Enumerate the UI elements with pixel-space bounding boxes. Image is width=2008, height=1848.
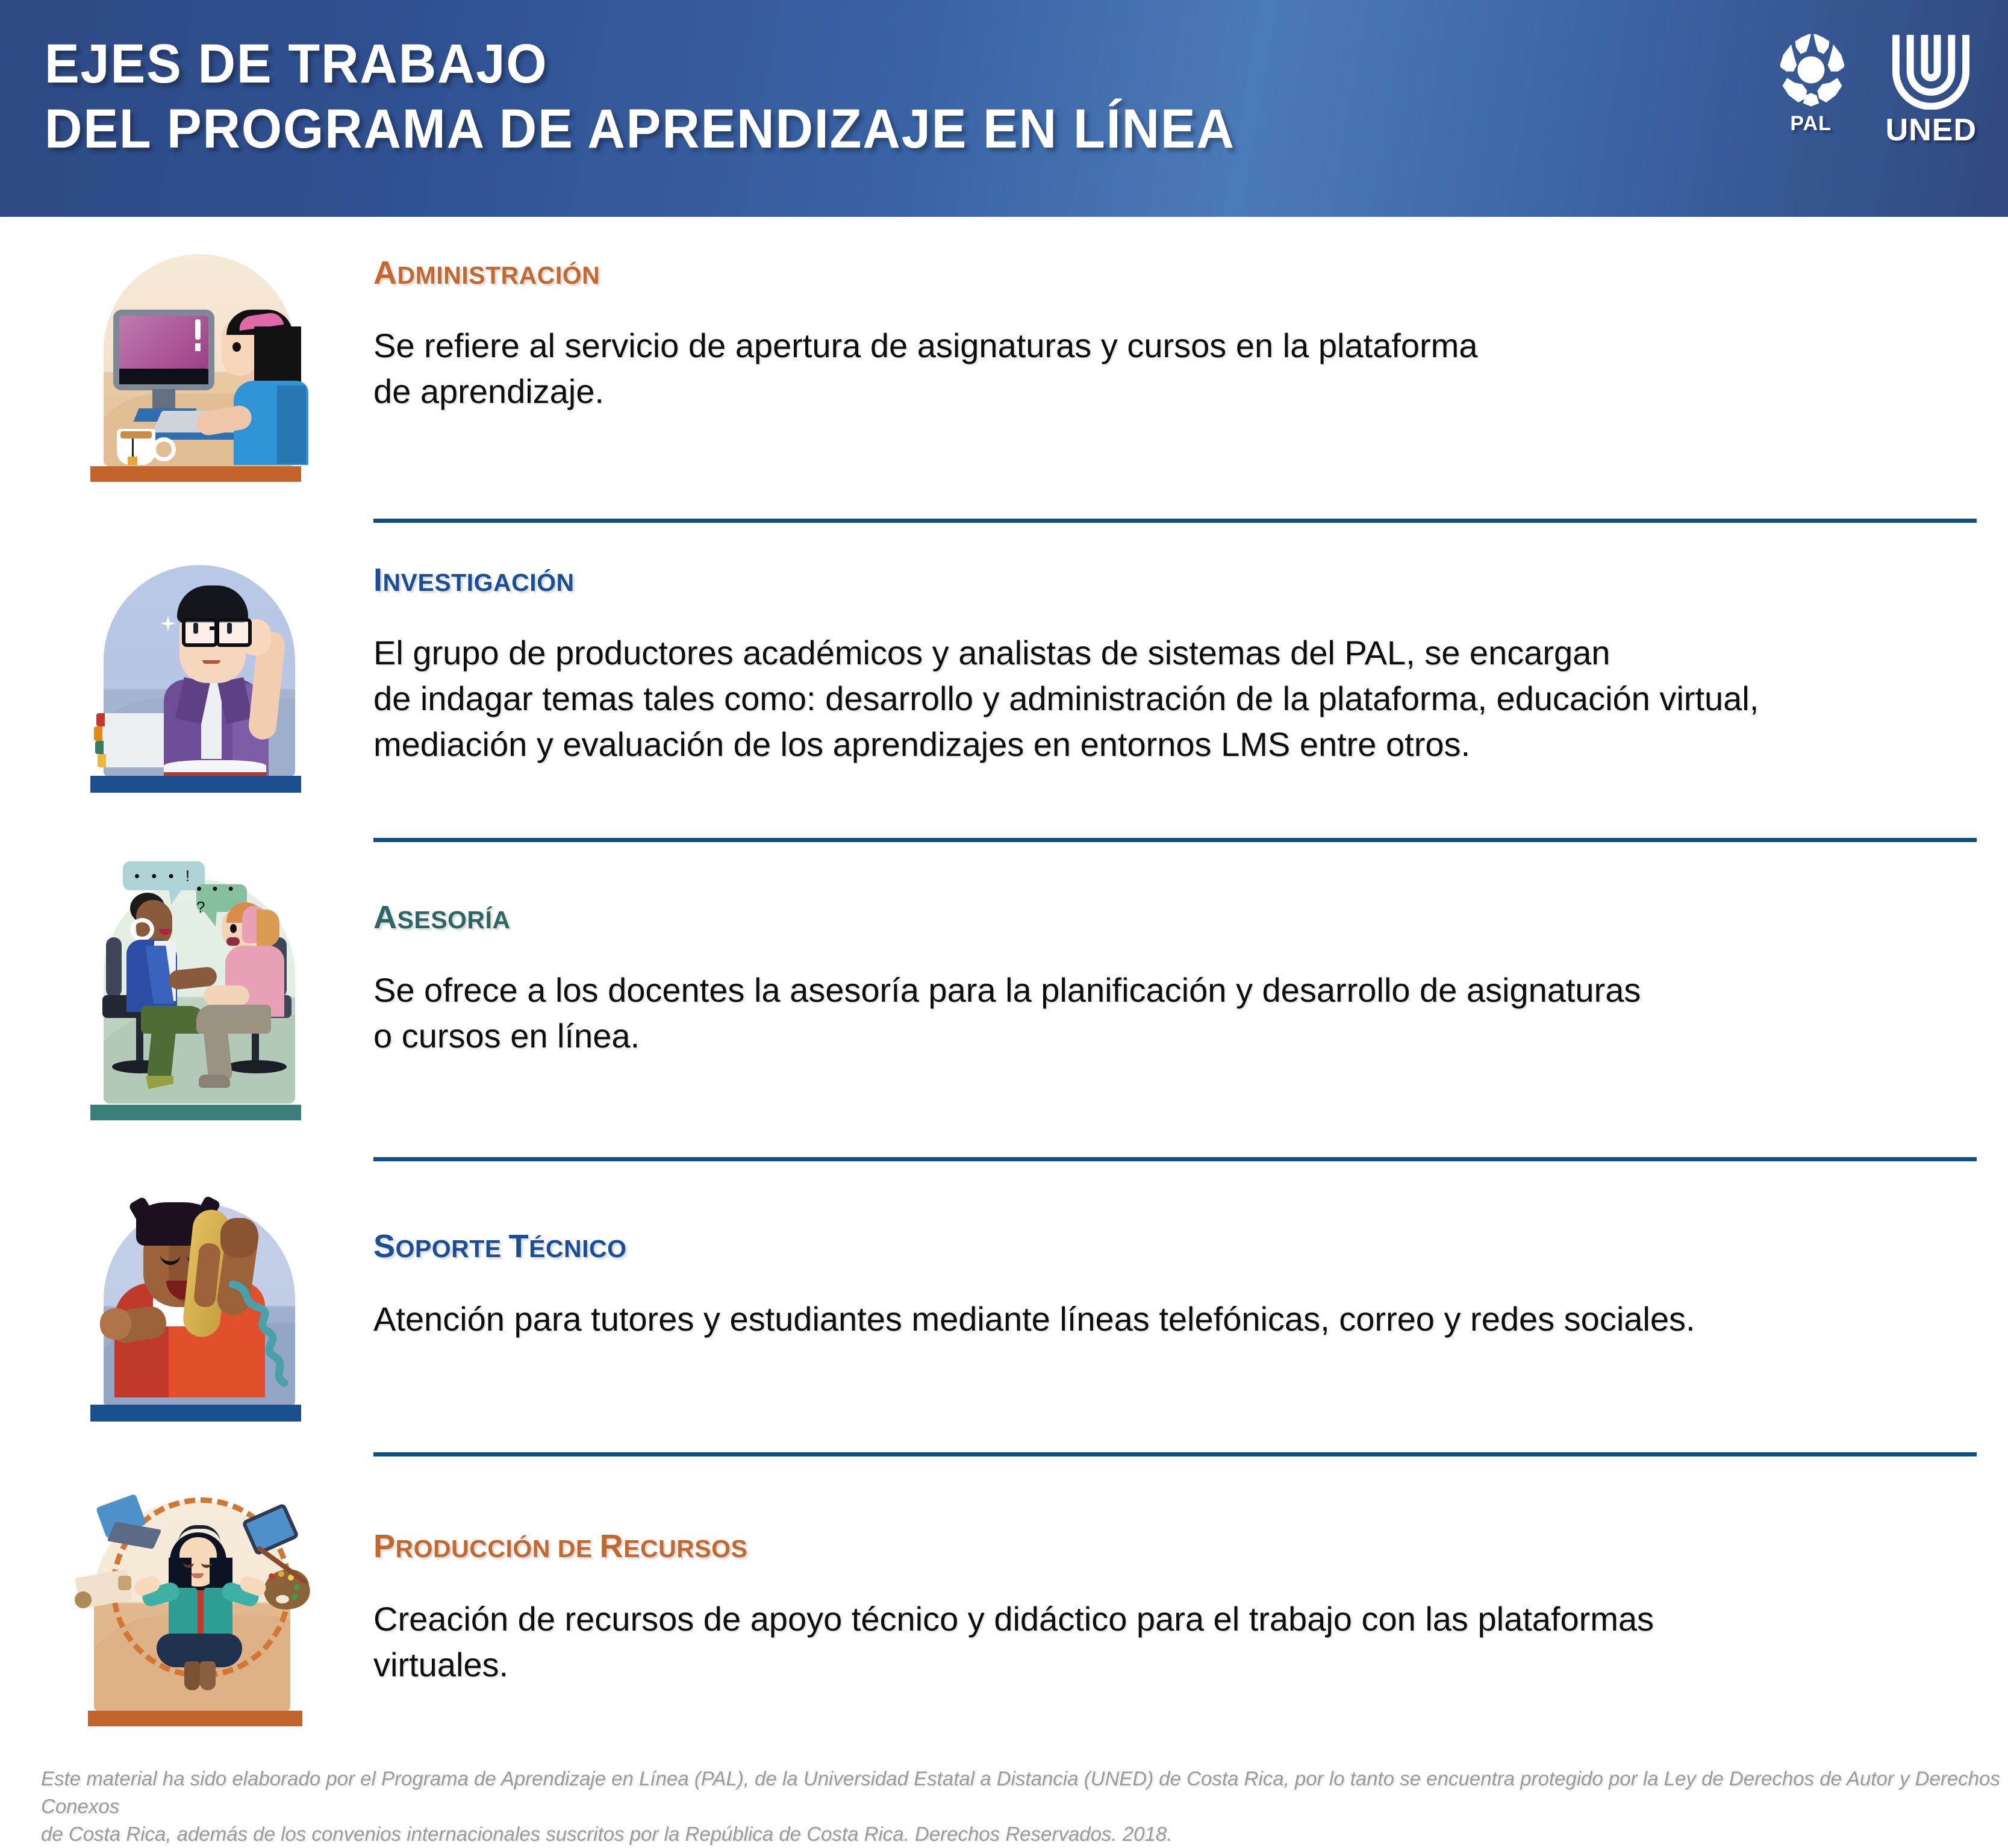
section-art-column bbox=[0, 524, 373, 777]
section-text-column: ASESORÍA Se ofrece a los docentes la ase… bbox=[373, 843, 2008, 1059]
page-header: EJES DE TRABAJO DEL PROGRAMA DE APRENDIZ… bbox=[0, 0, 2008, 217]
section-text-column: ADMINISTRACIÓN Se refiere al servicio de… bbox=[373, 217, 2008, 414]
pal-rosette-icon bbox=[1771, 30, 1851, 110]
header-logos: PAL UNED bbox=[1771, 30, 1977, 148]
uned-logo-block: UNED bbox=[1886, 30, 1977, 148]
section-heading-administracion: ADMINISTRACIÓN bbox=[373, 254, 1942, 292]
sections-list: ADMINISTRACIÓN Se refiere al servicio de… bbox=[0, 217, 2008, 1741]
meditating-woman-with-devices-illustration bbox=[66, 1467, 325, 1726]
woman-at-computer-illustration bbox=[78, 230, 319, 483]
pal-logo-block: PAL bbox=[1771, 30, 1851, 136]
section-body-soporte-tecnico: Atención para tutores y estudiantes medi… bbox=[373, 1296, 1942, 1342]
telephone-cord-icon bbox=[229, 1281, 295, 1389]
speech-bubble-left: • • • ! bbox=[123, 861, 205, 890]
section-administracion: ADMINISTRACIÓN Se refiere al servicio de… bbox=[0, 217, 2008, 524]
section-divider bbox=[373, 1157, 1977, 1161]
uned-arcs-icon bbox=[1890, 30, 1972, 110]
section-art-column bbox=[0, 1458, 373, 1717]
section-body-administracion: Se refiere al servicio de apertura de as… bbox=[373, 323, 1942, 414]
two-people-talking-illustration: • • • ! • • • ? bbox=[78, 855, 319, 1120]
section-produccion-de-recursos: PRODUCCIÓN DE RECURSOS Creación de recur… bbox=[0, 1458, 2008, 1741]
section-heading-asesoria: ASESORÍA bbox=[373, 899, 1942, 936]
section-soporte-tecnico: SOPORTE TÉCNICO Atención para tutores y … bbox=[0, 1163, 2008, 1458]
uned-logo-label: UNED bbox=[1886, 112, 1977, 148]
section-text-column: SOPORTE TÉCNICO Atención para tutores y … bbox=[373, 1163, 2008, 1342]
section-investigacion: INVESTIGACIÓN El grupo de productores ac… bbox=[0, 524, 2008, 843]
section-text-column: PRODUCCIÓN DE RECURSOS Creación de recur… bbox=[373, 1458, 2008, 1688]
section-body-asesoria: Se ofrece a los docentes la asesoría par… bbox=[373, 967, 1942, 1059]
section-body-produccion-de-recursos: Creación de recursos de apoyo técnico y … bbox=[373, 1596, 1942, 1688]
section-heading-investigacion: INVESTIGACIÓN bbox=[373, 561, 1942, 599]
copyright-notice: Este material ha sido elaborado por el P… bbox=[41, 1765, 2008, 1848]
section-art-column: • • • ! • • • ? bbox=[0, 843, 373, 1108]
section-text-column: INVESTIGACIÓN El grupo de productores ac… bbox=[373, 524, 2008, 767]
section-heading-soporte-tecnico: SOPORTE TÉCNICO bbox=[373, 1228, 1942, 1265]
section-divider bbox=[373, 519, 1977, 523]
man-with-glasses-and-books-illustration bbox=[78, 541, 319, 794]
section-body-investigacion: El grupo de productores académicos y ana… bbox=[373, 630, 1942, 767]
section-heading-produccion-de-recursos: PRODUCCIÓN DE RECURSOS bbox=[373, 1528, 1942, 1565]
section-asesoria: • • • ! • • • ? bbox=[0, 843, 2008, 1163]
page-footer: Este material ha sido elaborado por el P… bbox=[0, 1750, 2008, 1824]
section-art-column bbox=[0, 217, 373, 470]
pal-logo-label: PAL bbox=[1790, 112, 1831, 136]
section-divider bbox=[373, 1452, 1977, 1456]
section-art-column bbox=[0, 1163, 373, 1403]
man-on-telephone-illustration bbox=[78, 1181, 319, 1422]
section-divider bbox=[373, 838, 1977, 842]
page-title: EJES DE TRABAJO DEL PROGRAMA DE APRENDIZ… bbox=[45, 31, 1235, 161]
